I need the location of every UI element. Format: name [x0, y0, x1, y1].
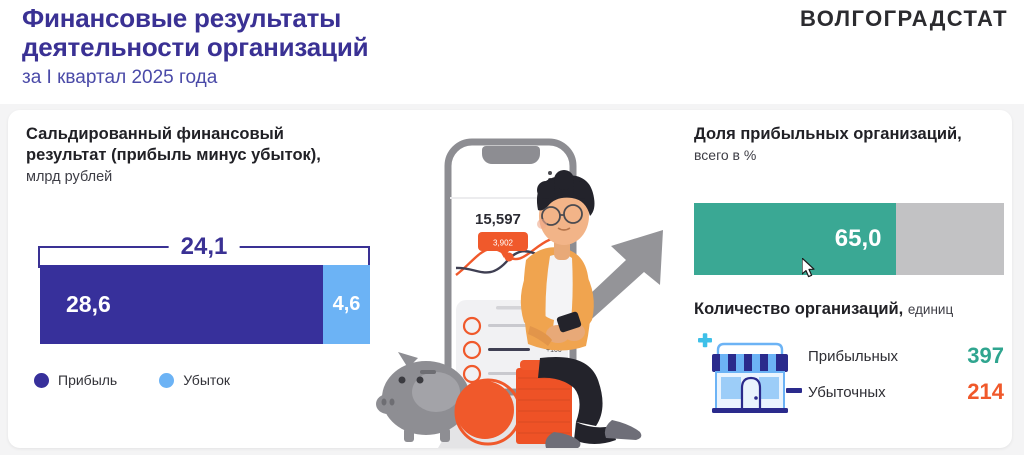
- phone-total-value: 15,597: [475, 211, 521, 228]
- count-label-unprofitable: Убыточных: [808, 384, 886, 401]
- share-units: всего в %: [694, 147, 1004, 163]
- title-block: Финансовые результаты деятельности орган…: [22, 4, 368, 91]
- saldo-heading-line2: результат (прибыль минус убыток),: [26, 145, 386, 166]
- legend-dot-profit-icon: [34, 373, 49, 388]
- plus-sign-icon: [698, 333, 712, 347]
- bar-segment-profit-value: 28,6: [66, 291, 111, 318]
- count-row-profitable: Прибыльных 397: [808, 338, 1004, 374]
- header: Финансовые результаты деятельности орган…: [0, 0, 1024, 104]
- legend-dot-loss-icon: [159, 373, 174, 388]
- count-rows: Прибыльных 397 Убыточных 214: [808, 338, 1004, 410]
- page-subtitle: за I квартал 2025 года: [22, 65, 368, 91]
- bar-segment-loss: 4,6: [323, 265, 370, 344]
- legend-label-loss: Убыток: [183, 372, 230, 388]
- share-panel: Доля прибыльных организаций, всего в %: [694, 124, 1004, 163]
- finance-illustration: 15,597 3,902 -45.90 +100 -56.92: [368, 110, 698, 448]
- count-heading-text: Количество организаций,: [694, 300, 903, 318]
- tooltip-value: 3,902: [493, 239, 514, 248]
- count-units: единиц: [908, 302, 953, 317]
- legend-label-profit: Прибыль: [58, 372, 117, 388]
- saldo-legend: Прибыль Убыток: [34, 372, 230, 388]
- share-progress-bar: 65,0: [694, 203, 1004, 275]
- total-value: 24,1: [169, 232, 240, 261]
- page-title-line1: Финансовые результаты: [22, 4, 368, 33]
- share-progress-fill: 65,0: [694, 203, 896, 275]
- saldo-stacked-bar: 28,6 4,6: [40, 265, 370, 344]
- bar-segment-loss-value: 4,6: [333, 293, 361, 316]
- total-bracket: 24,1: [38, 232, 370, 268]
- count-value-profitable: 397: [967, 343, 1004, 369]
- brand-logo-text: ВОЛГОГРАДСТАТ: [800, 6, 1008, 32]
- share-heading: Доля прибыльных организаций,: [694, 124, 1004, 145]
- count-row-unprofitable: Убыточных 214: [808, 374, 1004, 410]
- minus-sign-icon: [786, 388, 802, 393]
- legend-item-loss: Убыток: [159, 372, 230, 388]
- content-card: Сальдированный финансовый результат (при…: [8, 110, 1012, 448]
- saldo-panel: Сальдированный финансовый результат (при…: [26, 124, 386, 187]
- store-building-icon: [698, 328, 804, 420]
- count-label-profitable: Прибыльных: [808, 348, 898, 365]
- page-title-line2: деятельности организаций: [22, 33, 368, 62]
- count-heading: Количество организаций, единиц: [694, 300, 953, 319]
- illustration-svg: 15,597 3,902 -45.90 +100 -56.92: [368, 110, 698, 448]
- count-value-unprofitable: 214: [967, 379, 1004, 405]
- saldo-units: млрд рублей: [26, 167, 386, 187]
- share-progress-value: 65,0: [835, 225, 882, 253]
- saldo-heading-line1: Сальдированный финансовый: [26, 124, 386, 145]
- bar-segment-profit: 28,6: [40, 265, 323, 344]
- infographic-page: Финансовые результаты деятельности орган…: [0, 0, 1024, 455]
- legend-item-profit: Прибыль: [34, 372, 117, 388]
